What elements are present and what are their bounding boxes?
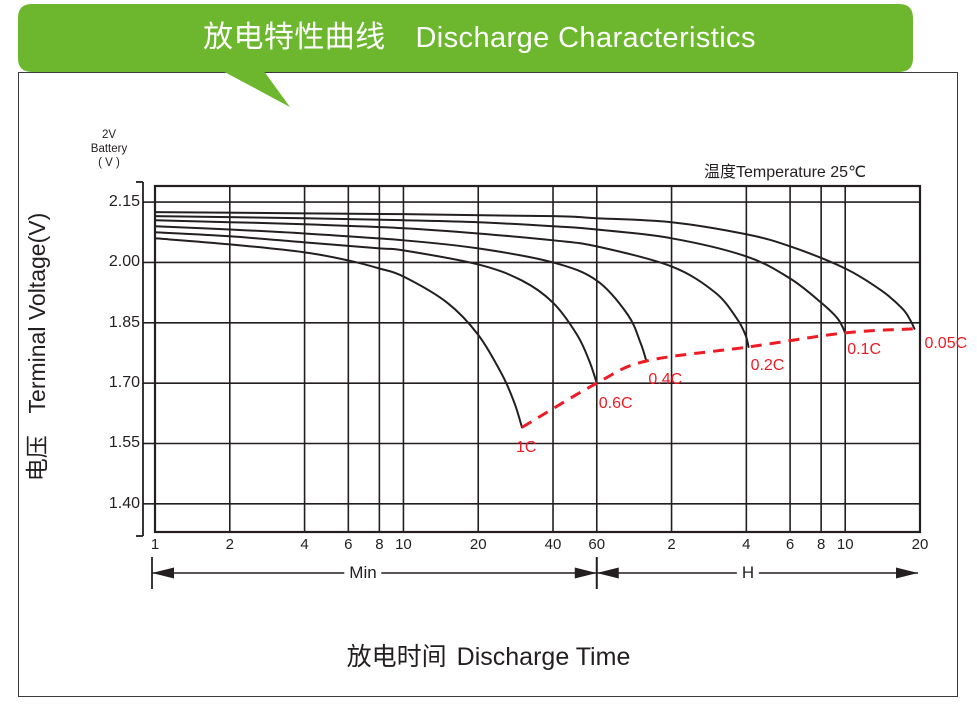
banner-title: 放电特性曲线 Discharge Characteristics [18, 4, 913, 72]
y-tick-label: 1.85 [84, 314, 140, 332]
segment-label-hour: H [737, 563, 759, 583]
x-tick-label: 10 [837, 536, 854, 553]
curve-label-0-1C: 0.1C [847, 341, 881, 359]
x-tick-label: 6 [786, 536, 794, 553]
y-axis-title-cn: 电压 [24, 435, 50, 481]
curve-label-0-6C: 0.6C [599, 395, 633, 413]
x-tick-label: 2 [667, 536, 675, 553]
y-axis-caption-line1: 2V [76, 128, 142, 142]
banner-title-cn: 放电特性曲线 [203, 21, 385, 54]
y-tick-label: 1.55 [84, 434, 140, 452]
x-tick-label: 4 [300, 536, 308, 553]
x-axis-title-en: Discharge Time [457, 643, 631, 671]
y-tick-label: 2.00 [84, 253, 140, 271]
x-tick-label: 4 [742, 536, 750, 553]
curve-label-0-05C: 0.05C [924, 335, 967, 353]
x-tick-label: 10 [395, 536, 412, 553]
x-tick-label: 40 [545, 536, 562, 553]
x-tick-label: 8 [375, 536, 383, 553]
curve-label-0-2C: 0.2C [751, 357, 785, 375]
y-tick-label: 1.40 [84, 495, 140, 513]
y-tick-label: 1.70 [84, 374, 140, 392]
y-axis-caption-line3: ( V ) [76, 156, 142, 170]
curve-label-0-4C: 0.4C [648, 371, 682, 389]
x-tick-label: 60 [588, 536, 605, 553]
discharge-curves [155, 212, 914, 427]
y-axis-title-en: Terminal Voltage(V) [24, 213, 50, 414]
x-tick-label: 20 [912, 536, 929, 553]
segment-label-min: Min [344, 563, 381, 583]
header-banner: 放电特性曲线 Discharge Characteristics [18, 4, 913, 108]
y-axis-title: 电压 Terminal Voltage(V) [18, 147, 52, 547]
y-axis-caption: 2V Battery ( V ) [76, 128, 142, 170]
x-axis-title-cn: 放电时间 [347, 643, 447, 671]
x-tick-label: 20 [470, 536, 487, 553]
x-axis-title: 放电时间Discharge Time [0, 637, 977, 673]
banner-title-en: Discharge Characteristics [415, 22, 755, 54]
x-tick-label: 2 [226, 536, 234, 553]
axis-tick-marks [136, 182, 155, 536]
x-tick-label: 8 [817, 536, 825, 553]
curve-label-1C: 1C [516, 439, 536, 457]
x-tick-label: 6 [344, 536, 352, 553]
temperature-annotation: 温度Temperature 25℃ [704, 158, 866, 182]
y-axis-caption-line2: Battery [76, 142, 142, 156]
x-tick-label: 1 [151, 536, 159, 553]
segment-arrows [152, 557, 918, 589]
y-tick-label: 2.15 [84, 193, 140, 211]
